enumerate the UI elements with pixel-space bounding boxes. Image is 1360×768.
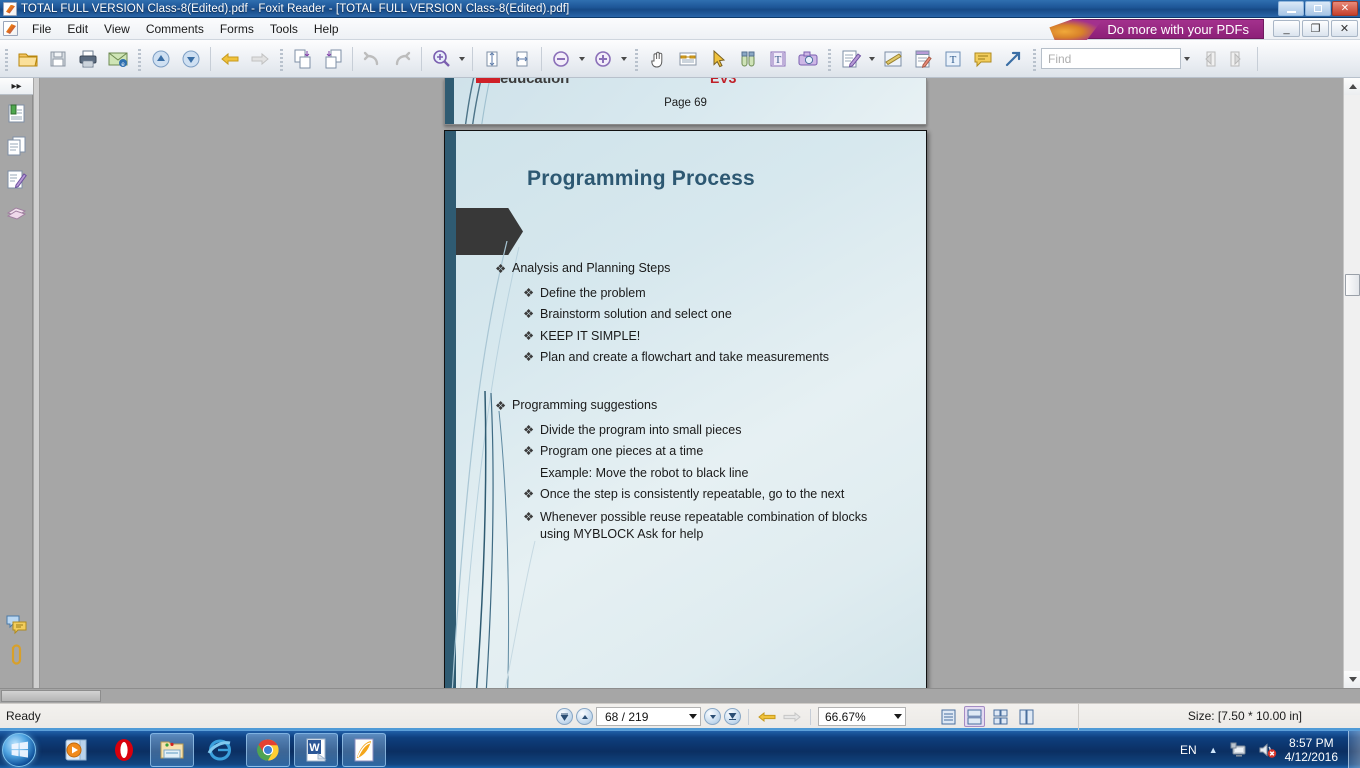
bullet-text: KEEP IT SIMPLE! bbox=[540, 328, 640, 345]
fit-page-icon[interactable] bbox=[477, 44, 507, 74]
chevron-down-icon[interactable] bbox=[894, 714, 902, 719]
bullet-text: Plan and create a flowchart and take mea… bbox=[540, 349, 829, 366]
show-hidden-icons-button[interactable]: ▲ bbox=[1209, 745, 1218, 755]
taskbar-item-opera[interactable] bbox=[102, 733, 146, 767]
status-separator-3 bbox=[1078, 704, 1079, 730]
status-separator-1 bbox=[748, 709, 749, 725]
bullet-heading: ❖ Programming suggestions bbox=[495, 398, 915, 413]
open-folder-icon[interactable] bbox=[13, 44, 43, 74]
bullet-marker-icon: ❖ bbox=[523, 306, 540, 323]
menu-app-icon[interactable] bbox=[3, 21, 18, 36]
page-number-label: Page 69 bbox=[445, 97, 926, 109]
toolbar-separator-2 bbox=[352, 47, 353, 71]
ev3-brand-text: EV3 bbox=[710, 78, 736, 86]
email-icon[interactable]: e bbox=[103, 44, 133, 74]
pages-thumbnails-icon[interactable] bbox=[5, 135, 28, 158]
list-item: ❖ Program one pieces at a time bbox=[495, 443, 915, 460]
education-logo-text: education bbox=[500, 78, 569, 87]
bullet-marker-icon: ❖ bbox=[495, 261, 512, 276]
zoom-tool-icon[interactable] bbox=[426, 44, 456, 74]
foxit-app-icon bbox=[3, 2, 17, 16]
doc-minimize-button[interactable]: _ bbox=[1273, 20, 1300, 37]
taskbar-item-file-explorer[interactable] bbox=[150, 733, 194, 767]
next-view-icon[interactable] bbox=[245, 44, 275, 74]
windows-taskbar: W EN ▲ bbox=[0, 730, 1360, 768]
slide-bullet-list: ❖ Analysis and Planning Steps ❖ Define t… bbox=[495, 261, 915, 548]
menu-item-help[interactable]: Help bbox=[306, 20, 347, 38]
system-tray: EN ▲ 8:57 PM 4/12/2 bbox=[1180, 731, 1360, 768]
slide-left-bar bbox=[445, 131, 456, 688]
toolbar-separator-6 bbox=[1257, 47, 1258, 71]
bullet-marker-icon: ❖ bbox=[523, 328, 540, 345]
zoom-out-icon[interactable] bbox=[546, 44, 576, 74]
doc-restore-button[interactable]: ❐ bbox=[1302, 20, 1329, 37]
zoom-in-icon[interactable] bbox=[588, 44, 618, 74]
attachments-icon[interactable] bbox=[5, 644, 28, 667]
toolbar-grip-2[interactable] bbox=[136, 47, 143, 71]
undo-icon[interactable] bbox=[357, 44, 387, 74]
status-bar: Ready 68 / 219 66.67% bbox=[0, 703, 1360, 730]
maximize-button[interactable] bbox=[1305, 1, 1331, 16]
horizontal-scrollbar[interactable] bbox=[0, 688, 1360, 703]
print-icon[interactable] bbox=[73, 44, 103, 74]
page-navigation-group: 68 / 219 66.67% bbox=[556, 706, 1037, 727]
zoom-in-dropdown-arrow-icon[interactable] bbox=[618, 44, 630, 74]
list-item: ❖ Plan and create a flowchart and take m… bbox=[495, 349, 915, 366]
menu-item-tools[interactable]: Tools bbox=[262, 20, 306, 38]
redo-icon[interactable] bbox=[387, 44, 417, 74]
menu-item-view[interactable]: View bbox=[96, 20, 138, 38]
menu-item-comments[interactable]: Comments bbox=[138, 20, 212, 38]
document-size-label: Size: [7.50 * 10.00 in] bbox=[1188, 709, 1302, 723]
volume-muted-icon[interactable] bbox=[1257, 740, 1277, 760]
find-next-icon[interactable] bbox=[1223, 44, 1253, 74]
last-page-button[interactable] bbox=[724, 708, 741, 725]
toolbar-separator-5 bbox=[541, 47, 542, 71]
zoom-dropdown-arrow-icon[interactable] bbox=[456, 44, 468, 74]
svg-text:T: T bbox=[775, 54, 782, 66]
bullet-marker-icon: ❖ bbox=[523, 486, 540, 503]
svg-text:W: W bbox=[309, 742, 320, 754]
find-dropdown-arrow-icon[interactable] bbox=[1181, 44, 1193, 74]
markup-dropdown-arrow-icon[interactable] bbox=[866, 44, 878, 74]
promo-label: Do more with your PDFs bbox=[1107, 22, 1249, 37]
education-logo-mark bbox=[476, 78, 500, 83]
minimize-button[interactable] bbox=[1278, 1, 1304, 16]
clock[interactable]: 8:57 PM 4/12/2016 bbox=[1285, 736, 1338, 764]
bullet-text: Once the step is consistently repeatable… bbox=[540, 486, 844, 503]
taskbar-item-google-chrome[interactable] bbox=[246, 733, 290, 767]
bullet-text: Analysis and Planning Steps bbox=[512, 261, 670, 276]
toolbar-grip-5[interactable] bbox=[826, 47, 833, 71]
view-mode-single-page-icon[interactable] bbox=[938, 706, 959, 727]
previous-page-fragment: education EV3 Page 69 bbox=[444, 78, 927, 125]
main-area: ▸▸ bbox=[0, 78, 1360, 688]
list-item: ❖ KEEP IT SIMPLE! bbox=[495, 328, 915, 345]
select-tool-icon[interactable] bbox=[703, 44, 733, 74]
menu-bar: File Edit View Comments Forms Tools Help… bbox=[0, 18, 1360, 40]
start-orb-icon[interactable] bbox=[2, 733, 36, 767]
bullet-marker-icon: ❖ bbox=[523, 443, 540, 460]
bullet-text: Divide the program into small pieces bbox=[540, 422, 741, 439]
bullet-text: Whenever possible reuse repeatable combi… bbox=[540, 509, 870, 544]
taskbar-item-microsoft-word[interactable]: W bbox=[294, 733, 338, 767]
taskbar-item-internet-explorer[interactable] bbox=[198, 733, 242, 767]
menu-item-file[interactable]: File bbox=[24, 20, 59, 38]
chevron-down-icon[interactable] bbox=[689, 714, 697, 719]
markup-tool-icon[interactable] bbox=[836, 44, 866, 74]
horizontal-scroll-thumb[interactable] bbox=[1, 690, 101, 702]
document-window-controls: _ ❐ ✕ bbox=[1273, 20, 1358, 37]
slide-arrow-shape bbox=[456, 208, 523, 255]
fit-width-icon[interactable] bbox=[507, 44, 537, 74]
zoom-level-input[interactable]: 66.67% bbox=[818, 707, 906, 726]
camera-snapshot-icon[interactable] bbox=[793, 44, 823, 74]
text-select-icon[interactable]: T bbox=[763, 44, 793, 74]
previous-view-icon[interactable] bbox=[215, 44, 245, 74]
panel-splitter[interactable] bbox=[34, 78, 40, 688]
toolbar-grip-6[interactable] bbox=[1031, 47, 1038, 71]
slide-title: Programming Process bbox=[527, 167, 755, 191]
stamps-icon[interactable] bbox=[5, 200, 28, 223]
list-item-continuation: Example: Move the robot to black line bbox=[495, 465, 915, 482]
bullet-text: Program one pieces at a time bbox=[540, 443, 703, 460]
sticky-note-icon[interactable] bbox=[968, 44, 998, 74]
highlight-icon[interactable] bbox=[878, 44, 908, 74]
main-toolbar: e bbox=[0, 40, 1360, 78]
list-item: ❖ Divide the program into small pieces bbox=[495, 422, 915, 439]
list-item: ❖ Once the step is consistently repeatab… bbox=[495, 486, 915, 503]
list-spacer bbox=[495, 370, 915, 398]
toolbar-grip-4[interactable] bbox=[633, 47, 640, 71]
toolbar-grip[interactable] bbox=[3, 47, 10, 71]
arrow-tool-icon[interactable] bbox=[998, 44, 1028, 74]
promo-swoosh-icon bbox=[1049, 19, 1101, 40]
status-separator-2 bbox=[810, 709, 811, 725]
promo-banner[interactable]: Do more with your PDFs bbox=[1072, 19, 1264, 39]
menu-item-edit[interactable]: Edit bbox=[59, 20, 96, 38]
menu-item-forms[interactable]: Forms bbox=[212, 20, 262, 38]
extract-pages-icon[interactable] bbox=[318, 44, 348, 74]
bullet-text: Brainstorm solution and select one bbox=[540, 306, 732, 323]
list-item: ❖ Define the problem bbox=[495, 285, 915, 302]
navigation-panel: ▸▸ bbox=[0, 78, 33, 688]
find-previous-icon[interactable] bbox=[1193, 44, 1223, 74]
svg-text:T: T bbox=[950, 54, 957, 66]
bullet-text: Define the problem bbox=[540, 285, 646, 302]
text-box-icon[interactable]: T bbox=[938, 44, 968, 74]
toolbar-separator-3 bbox=[421, 47, 422, 71]
toolbar-separator-4 bbox=[472, 47, 473, 71]
vertical-scrollbar[interactable] bbox=[1343, 78, 1360, 688]
taskbar-item-foxit-reader[interactable] bbox=[342, 733, 386, 767]
scroll-down-button[interactable] bbox=[1344, 671, 1360, 688]
toolbar-separator-1 bbox=[210, 47, 211, 71]
comments-icon[interactable] bbox=[5, 613, 28, 636]
next-view-button[interactable] bbox=[781, 707, 803, 727]
insert-pages-icon[interactable] bbox=[288, 44, 318, 74]
language-indicator[interactable]: EN bbox=[1180, 743, 1197, 757]
document-view[interactable]: education EV3 Page 69 Programming Proces… bbox=[41, 78, 1343, 688]
previous-page-button[interactable] bbox=[576, 708, 593, 725]
pdf-page: Programming Process ❖ Analysis and Plann… bbox=[444, 130, 927, 688]
view-mode-continuous-icon[interactable] bbox=[964, 706, 985, 727]
title-bar: TOTAL FULL VERSION Class-8(Edited).pdf -… bbox=[0, 0, 1360, 18]
last-page-icon[interactable] bbox=[176, 44, 206, 74]
previous-view-button[interactable] bbox=[756, 707, 778, 727]
first-page-button[interactable] bbox=[556, 708, 573, 725]
save-icon[interactable] bbox=[43, 44, 73, 74]
bullet-text: Example: Move the robot to black line bbox=[540, 465, 748, 482]
vertical-scroll-thumb[interactable] bbox=[1345, 274, 1360, 296]
bullet-heading: ❖ Analysis and Planning Steps bbox=[495, 261, 915, 276]
layers-icon[interactable] bbox=[5, 168, 28, 191]
page-number-input[interactable]: 68 / 219 bbox=[596, 707, 701, 726]
window-title: TOTAL FULL VERSION Class-8(Edited).pdf -… bbox=[21, 3, 569, 15]
bullet-text: Programming suggestions bbox=[512, 398, 657, 413]
clock-time: 8:57 PM bbox=[1285, 736, 1338, 750]
close-button[interactable]: ✕ bbox=[1332, 1, 1358, 16]
list-item: ❖ Brainstorm solution and select one bbox=[495, 306, 915, 323]
bullet-marker-icon: ❖ bbox=[495, 398, 512, 413]
hand-tool-icon[interactable] bbox=[643, 44, 673, 74]
clock-date: 4/12/2016 bbox=[1285, 750, 1338, 764]
expand-panel-button[interactable]: ▸▸ bbox=[0, 78, 33, 95]
snapshot-select-icon[interactable] bbox=[733, 44, 763, 74]
network-icon[interactable] bbox=[1229, 740, 1249, 760]
show-desktop-button[interactable] bbox=[1348, 731, 1360, 768]
doc-close-button[interactable]: ✕ bbox=[1331, 20, 1358, 37]
status-text: Ready bbox=[6, 709, 41, 723]
next-page-button[interactable] bbox=[704, 708, 721, 725]
taskbar-item-media-player[interactable] bbox=[54, 733, 98, 767]
first-page-icon[interactable] bbox=[146, 44, 176, 74]
bullet-marker-icon: ❖ bbox=[523, 422, 540, 439]
scroll-up-button[interactable] bbox=[1344, 78, 1360, 95]
bullet-marker-icon: ❖ bbox=[523, 285, 540, 302]
bookmarks-icon[interactable] bbox=[5, 102, 28, 125]
find-input[interactable]: Find bbox=[1041, 48, 1181, 69]
zoom-level-value: 66.67% bbox=[825, 710, 866, 724]
pencil-note-icon[interactable] bbox=[908, 44, 938, 74]
window-controls: ✕ bbox=[1278, 1, 1358, 16]
view-mode-facing-icon[interactable] bbox=[990, 706, 1011, 727]
bullet-marker-icon: ❖ bbox=[523, 349, 540, 366]
foxit-reader-window: TOTAL FULL VERSION Class-8(Edited).pdf -… bbox=[0, 0, 1360, 768]
zoom-out-dropdown-arrow-icon[interactable] bbox=[576, 44, 588, 74]
page-number-value: 68 / 219 bbox=[605, 710, 648, 724]
read-mode-icon[interactable] bbox=[673, 44, 703, 74]
bullet-marker-icon: ❖ bbox=[523, 509, 540, 544]
view-mode-continuous-facing-icon[interactable] bbox=[1016, 706, 1037, 727]
list-item: ❖ Whenever possible reuse repeatable com… bbox=[495, 509, 915, 544]
toolbar-grip-3[interactable] bbox=[278, 47, 285, 71]
